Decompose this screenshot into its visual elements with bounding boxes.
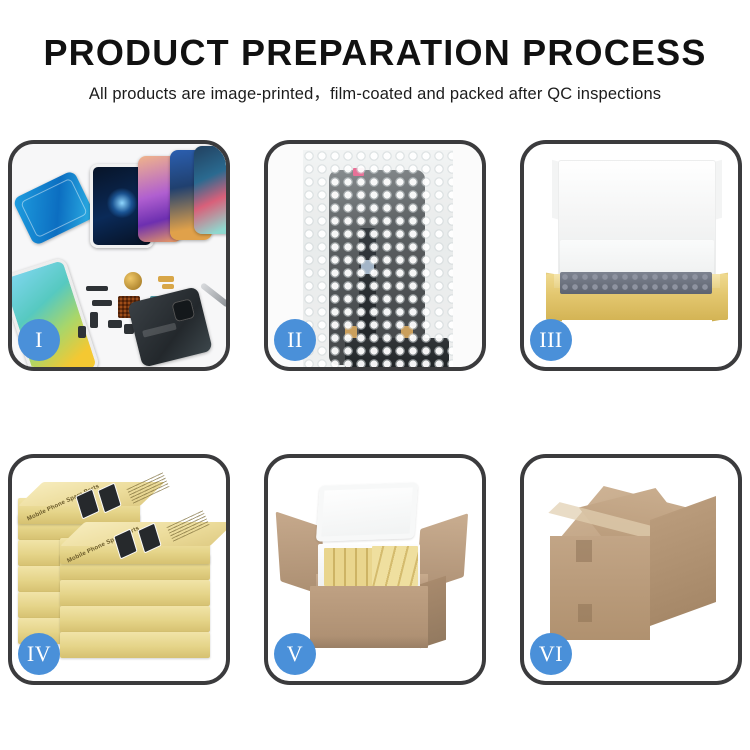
bubble-wrapped-contents bbox=[560, 272, 712, 294]
page-header: PRODUCT PREPARATION PROCESS All products… bbox=[0, 0, 750, 104]
carton-front-panel bbox=[310, 586, 428, 648]
yellow-boxes-row-2 bbox=[372, 546, 418, 586]
process-step-panel-3[interactable]: III bbox=[520, 140, 742, 371]
process-step-panel-1[interactable]: I bbox=[8, 140, 230, 371]
bubble-texture bbox=[303, 150, 453, 367]
carton-seam-lower bbox=[578, 604, 592, 622]
teal-curved-phone bbox=[194, 146, 226, 234]
camera-module-part bbox=[90, 312, 98, 328]
sealed-carton-front bbox=[550, 536, 650, 640]
flex-cable-part bbox=[92, 300, 112, 306]
retail-box-right-3 bbox=[60, 606, 210, 632]
vibration-motor-part bbox=[124, 272, 142, 290]
carton-seam-upper bbox=[576, 540, 592, 562]
step-2-badge: II bbox=[274, 319, 316, 361]
step-4-badge: IV bbox=[18, 633, 60, 675]
process-steps-grid: I II bbox=[8, 140, 742, 685]
process-step-panel-4[interactable]: Mobile Phone Spare Parts Mobile Phone Sp… bbox=[8, 454, 230, 685]
bubble-wrap-bag bbox=[303, 150, 453, 367]
page-subtitle: All products are image-printed，film-coat… bbox=[0, 73, 750, 104]
retail-box-right-2 bbox=[60, 580, 210, 606]
retail-box-spec-lines-1 bbox=[126, 472, 169, 503]
step-1-badge: I bbox=[18, 319, 60, 361]
retail-box-right-4 bbox=[60, 632, 210, 658]
page-title: PRODUCT PREPARATION PROCESS bbox=[0, 0, 750, 73]
process-step-panel-6[interactable]: VI bbox=[520, 454, 742, 685]
gold-flex-connector-2 bbox=[162, 284, 174, 289]
gold-flex-connector bbox=[158, 276, 174, 282]
small-connector-part bbox=[78, 326, 86, 338]
step-3-badge: III bbox=[530, 319, 572, 361]
foam-lid bbox=[316, 482, 418, 541]
process-step-panel-5[interactable]: V bbox=[264, 454, 486, 685]
step-5-badge: V bbox=[274, 633, 316, 675]
speaker-mesh-part bbox=[86, 286, 108, 291]
step-6-badge: VI bbox=[530, 633, 572, 675]
process-step-panel-2[interactable]: II bbox=[264, 140, 486, 371]
button-part bbox=[108, 320, 122, 328]
